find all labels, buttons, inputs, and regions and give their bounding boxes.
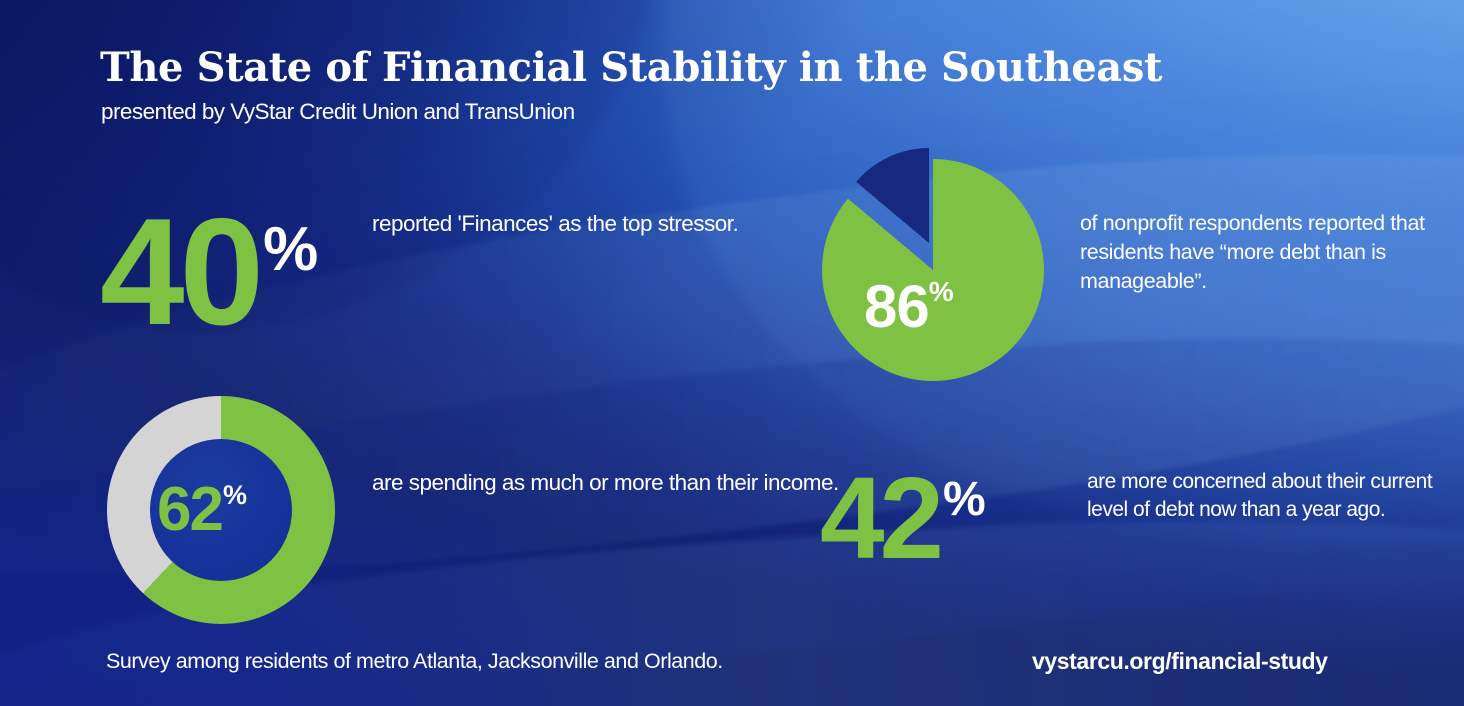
stat-42-value: 42	[820, 460, 939, 576]
pie-chart-86: 86%	[812, 148, 1046, 364]
donut-62-value: 62	[157, 475, 222, 544]
stat-40-percent-symbol: %	[263, 214, 318, 285]
pie-slice-main-86	[822, 159, 1044, 381]
stat-42-percent-symbol: %	[943, 472, 986, 527]
stat-42-percent: 42%	[820, 460, 986, 576]
stat-40-description: reported 'Finances' as the top stressor.	[372, 209, 738, 239]
pie-chart-86-label: 86%	[864, 272, 954, 341]
footer-url-link[interactable]: vystarcu.org/financial-study	[1032, 648, 1328, 675]
stat-62-description: are spending as much or more than their …	[372, 468, 839, 498]
page-title: The State of Financial Stability in the …	[100, 44, 1162, 91]
stat-40-value: 40	[100, 196, 259, 348]
donut-62-percent-symbol: %	[223, 480, 247, 510]
stat-40-percent: 40%	[100, 196, 318, 348]
footer-survey-note: Survey among residents of metro Atlanta,…	[106, 649, 723, 674]
donut-chart-62: 62%	[107, 396, 335, 624]
pie-86-percent-symbol: %	[929, 276, 954, 307]
content-root: The State of Financial Stability in the …	[0, 0, 1464, 706]
stat-86-description: of nonprofit respondents reported that r…	[1080, 209, 1464, 297]
donut-chart-62-label: 62%	[157, 474, 246, 545]
page-subtitle: presented by VyStar Credit Union and Tra…	[101, 99, 575, 125]
stat-42-description: are more concerned about their current l…	[1087, 468, 1464, 524]
pie-86-value: 86	[864, 273, 929, 340]
infographic-canvas: The State of Financial Stability in the …	[0, 0, 1464, 706]
